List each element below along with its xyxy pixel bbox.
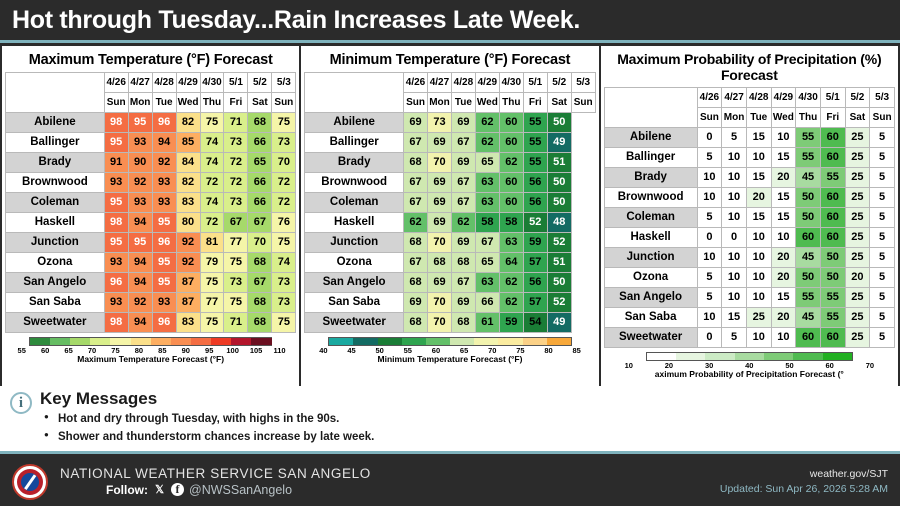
forecast-cell: 68 [248, 313, 272, 333]
city-label: Coleman [305, 193, 404, 213]
legend-tick-label: 85 [563, 346, 591, 355]
column-date-header: 4/27 [128, 73, 152, 93]
forecast-cell: 10 [746, 148, 771, 168]
forecast-cell: 10 [722, 208, 747, 228]
table-row: Brady101015204555255 [604, 168, 894, 188]
forecast-cell: 10 [697, 188, 722, 208]
city-label: Haskell [604, 228, 697, 248]
city-label: San Angelo [6, 273, 105, 293]
forecast-cell: 83 [176, 193, 200, 213]
forecast-cell: 62 [499, 153, 523, 173]
legend-colorbar [646, 352, 853, 361]
column-date-header: 5/3 [870, 88, 895, 108]
forecast-panels: Maximum Temperature (°F) Forecast 4/264/… [0, 46, 900, 386]
forecast-cell: 25 [845, 328, 870, 348]
forecast-cell: 73 [224, 193, 248, 213]
forecast-cell: 59 [523, 233, 547, 253]
forecast-cell: 48 [547, 213, 571, 233]
legend-swatch [547, 338, 571, 345]
forecast-cell: 10 [771, 228, 796, 248]
forecast-cell: 55 [523, 133, 547, 153]
legend-swatch [50, 338, 70, 345]
forecast-cell: 10 [746, 328, 771, 348]
forecast-cell: 62 [475, 113, 499, 133]
forecast-cell: 70 [427, 153, 451, 173]
forecast-cell: 72 [272, 173, 296, 193]
nws-logo-icon [12, 464, 48, 500]
forecast-cell: 52 [523, 213, 547, 233]
forecast-cell: 5 [697, 288, 722, 308]
forecast-cell: 69 [427, 273, 451, 293]
forecast-cell: 52 [547, 293, 571, 313]
forecast-cell: 64 [499, 253, 523, 273]
forecast-cell: 92 [128, 173, 152, 193]
forecast-cell: 75 [200, 113, 224, 133]
forecast-cell: 20 [771, 168, 796, 188]
forecast-cell: 60 [796, 328, 821, 348]
follow-label: Follow: [106, 483, 148, 497]
legend-swatch [30, 338, 50, 345]
website-link[interactable]: weather.gov/SJT [720, 467, 888, 481]
city-label: Brownwood [604, 188, 697, 208]
forecast-cell: 83 [176, 313, 200, 333]
forecast-cell: 68 [451, 313, 475, 333]
legend-swatch [676, 353, 705, 360]
forecast-cell: 51 [547, 253, 571, 273]
city-label: San Saba [6, 293, 105, 313]
forecast-cell: 75 [272, 313, 296, 333]
forecast-cell: 55 [820, 288, 845, 308]
forecast-cell: 5 [870, 328, 895, 348]
legend-swatch [90, 338, 110, 345]
key-messages-list: Hot and dry through Tuesday, with highs … [40, 411, 374, 447]
forecast-cell: 5 [870, 288, 895, 308]
column-day-header: Thu [499, 93, 523, 113]
x-twitter-icon[interactable]: 𝕏 [153, 483, 166, 496]
forecast-cell: 58 [499, 213, 523, 233]
forecast-cell: 79 [200, 253, 224, 273]
legend-min-temp: 40455055606570758085 Minimum Temperature… [304, 337, 595, 366]
updated-timestamp: Updated: Sun Apr 26, 2026 5:28 AM [720, 482, 888, 496]
forecast-cell: 0 [722, 228, 747, 248]
forecast-cell [571, 293, 595, 313]
forecast-cell: 10 [746, 228, 771, 248]
weather-graphic: Hot through Tuesday...Rain Increases Lat… [0, 0, 900, 506]
forecast-cell: 73 [272, 133, 296, 153]
legend-colorbar [29, 337, 273, 346]
forecast-cell: 10 [771, 128, 796, 148]
table-row: Brownwood101020155060255 [604, 188, 894, 208]
forecast-cell: 68 [427, 253, 451, 273]
city-label: Sweetwater [6, 313, 105, 333]
legend-swatch [110, 338, 130, 345]
table-row: Ballinger9593948574736673 [6, 133, 296, 153]
forecast-cell: 52 [547, 233, 571, 253]
city-label: Ozona [6, 253, 105, 273]
forecast-cell [571, 253, 595, 273]
legend-swatch [151, 338, 171, 345]
column-day-header: Tue [451, 93, 475, 113]
forecast-cell: 5 [870, 308, 895, 328]
forecast-cell: 5 [697, 148, 722, 168]
forecast-cell: 50 [796, 268, 821, 288]
forecast-cell: 68 [404, 153, 428, 173]
forecast-cell: 0 [697, 328, 722, 348]
forecast-cell: 45 [796, 248, 821, 268]
forecast-cell: 15 [771, 188, 796, 208]
panel-min-temp: Minimum Temperature (°F) Forecast 4/264/… [301, 46, 598, 386]
legend-swatch [378, 338, 402, 345]
forecast-cell [571, 273, 595, 293]
column-date-header: 4/29 [176, 73, 200, 93]
forecast-cell: 75 [272, 233, 296, 253]
column-day-header: Mon [128, 93, 152, 113]
city-label: San Saba [305, 293, 404, 313]
column-day-header: Sun [104, 93, 128, 113]
forecast-cell: 67 [404, 253, 428, 273]
legend-swatch [498, 338, 522, 345]
column-date-header: 4/30 [200, 73, 224, 93]
forecast-cell: 25 [845, 208, 870, 228]
table-row: Coleman9593938374736672 [6, 193, 296, 213]
column-day-header: Fri [523, 93, 547, 113]
info-icon: i [10, 392, 32, 414]
city-label: Haskell [305, 213, 404, 233]
city-label: Sweetwater [604, 328, 697, 348]
forecast-cell: 25 [845, 168, 870, 188]
forecast-cell: 69 [427, 173, 451, 193]
forecast-cell: 5 [697, 208, 722, 228]
column-day-header: Mon [722, 108, 747, 128]
forecast-cell: 45 [796, 308, 821, 328]
forecast-cell: 94 [128, 253, 152, 273]
forecast-cell: 55 [820, 168, 845, 188]
forecast-cell: 20 [771, 308, 796, 328]
forecast-cell [571, 133, 595, 153]
table-row: San Angelo51010155555255 [604, 288, 894, 308]
legend-swatch [793, 353, 822, 360]
table-corner [6, 73, 105, 113]
forecast-cell: 67 [451, 133, 475, 153]
forecast-cell: 15 [722, 308, 747, 328]
forecast-cell: 50 [547, 273, 571, 293]
forecast-cell: 55 [796, 128, 821, 148]
legend-swatch [523, 338, 547, 345]
forecast-cell: 60 [820, 208, 845, 228]
forecast-cell: 72 [272, 193, 296, 213]
legend-swatch [353, 338, 377, 345]
forecast-cell: 70 [427, 313, 451, 333]
forecast-cell: 63 [499, 233, 523, 253]
legend-swatch [131, 338, 151, 345]
forecast-cell: 55 [820, 308, 845, 328]
forecast-cell: 68 [248, 253, 272, 273]
forecast-cell: 0 [697, 228, 722, 248]
legend-swatch [211, 338, 231, 345]
forecast-cell: 69 [451, 233, 475, 253]
column-day-header: Fri [224, 93, 248, 113]
forecast-cell: 96 [152, 233, 176, 253]
table-row: Junction68706967635952 [305, 233, 595, 253]
forecast-cell: 68 [404, 233, 428, 253]
forecast-cell: 5 [722, 328, 747, 348]
forecast-cell: 72 [200, 213, 224, 233]
forecast-cell: 10 [771, 328, 796, 348]
column-day-header: Fri [820, 108, 845, 128]
forecast-cell: 54 [523, 313, 547, 333]
forecast-cell: 55 [796, 288, 821, 308]
city-label: San Saba [604, 308, 697, 328]
city-label: Brady [305, 153, 404, 173]
forecast-cell: 75 [200, 273, 224, 293]
forecast-cell: 66 [475, 293, 499, 313]
forecast-cell: 92 [152, 153, 176, 173]
key-message-item: Shower and thunderstorm chances increase… [40, 429, 374, 447]
forecast-cell: 66 [248, 173, 272, 193]
forecast-cell: 73 [224, 133, 248, 153]
table-row: Brady68706965625551 [305, 153, 595, 173]
forecast-cell: 91 [104, 153, 128, 173]
legend-swatch [764, 353, 793, 360]
column-date-header: 4/27 [427, 73, 451, 93]
legend-caption: aximum Probability of Precipitation Fore… [608, 369, 891, 379]
forecast-cell: 10 [722, 148, 747, 168]
legend-colorbar [328, 337, 572, 346]
city-label: Ballinger [305, 133, 404, 153]
table-row: San Saba101525204555255 [604, 308, 894, 328]
column-day-header: Sun [404, 93, 428, 113]
city-label: Brownwood [6, 173, 105, 193]
forecast-cell: 74 [272, 253, 296, 273]
column-date-header: 5/1 [224, 73, 248, 93]
city-label: San Angelo [604, 288, 697, 308]
column-date-header: 5/1 [820, 88, 845, 108]
column-date-header: 4/26 [404, 73, 428, 93]
column-date-header: 4/28 [451, 73, 475, 93]
table-row: Sweetwater0510106060255 [604, 328, 894, 348]
forecast-cell: 95 [104, 133, 128, 153]
forecast-cell: 63 [475, 273, 499, 293]
forecast-cell: 87 [176, 273, 200, 293]
forecast-cell: 74 [200, 193, 224, 213]
forecast-cell: 60 [820, 328, 845, 348]
legend-swatch [426, 338, 450, 345]
forecast-cell: 80 [176, 213, 200, 233]
forecast-cell: 93 [152, 193, 176, 213]
forecast-cell: 93 [104, 173, 128, 193]
forecast-cell: 60 [796, 228, 821, 248]
table-row: Junction101010204550255 [604, 248, 894, 268]
legend-swatch [735, 353, 764, 360]
forecast-cell: 0 [697, 128, 722, 148]
forecast-cell: 55 [523, 113, 547, 133]
forecast-cell: 67 [404, 133, 428, 153]
forecast-cell: 10 [722, 288, 747, 308]
table-row: Ozona67686865645751 [305, 253, 595, 273]
forecast-cell: 10 [697, 248, 722, 268]
forecast-cell: 67 [248, 273, 272, 293]
forecast-cell: 25 [746, 308, 771, 328]
forecast-cell: 93 [128, 133, 152, 153]
legend-tick-label: 80 [534, 346, 562, 355]
table-corner [305, 73, 404, 113]
legend-precip: 10203040506070 aximum Probability of Pre… [604, 352, 895, 381]
forecast-cell: 50 [820, 268, 845, 288]
forecast-cell: 62 [404, 213, 428, 233]
footer-office-name: NATIONAL WEATHER SERVICE SAN ANGELO [60, 466, 371, 482]
table-row: Ozona9394959279756874 [6, 253, 296, 273]
forecast-cell: 10 [722, 248, 747, 268]
forecast-cell: 67 [404, 193, 428, 213]
legend-tick-label: 70 [850, 361, 890, 370]
legend-tick-label: 100 [221, 346, 244, 355]
city-label: Brownwood [305, 173, 404, 193]
forecast-cell: 69 [451, 293, 475, 313]
forecast-cell: 82 [176, 113, 200, 133]
city-label: Abilene [604, 128, 697, 148]
forecast-cell: 25 [845, 308, 870, 328]
forecast-cell: 5 [870, 168, 895, 188]
forecast-cell: 60 [499, 113, 523, 133]
table-row: Haskell62696258585248 [305, 213, 595, 233]
forecast-cell: 67 [451, 193, 475, 213]
legend-swatch [231, 338, 251, 345]
forecast-cell: 98 [104, 313, 128, 333]
facebook-icon[interactable]: f [171, 483, 184, 496]
forecast-cell: 95 [152, 273, 176, 293]
forecast-cell: 96 [152, 113, 176, 133]
forecast-cell: 74 [200, 133, 224, 153]
legend-swatch [823, 353, 852, 360]
forecast-cell: 25 [845, 188, 870, 208]
table-row: Brady9190928474726570 [6, 153, 296, 173]
forecast-cell: 96 [152, 313, 176, 333]
forecast-cell: 25 [845, 128, 870, 148]
forecast-cell: 56 [523, 193, 547, 213]
legend-swatch [474, 338, 498, 345]
forecast-cell: 68 [248, 293, 272, 313]
forecast-cell: 62 [451, 213, 475, 233]
column-date-header: 4/28 [152, 73, 176, 93]
table-row: Ballinger51010155560255 [604, 148, 894, 168]
forecast-cell: 92 [128, 293, 152, 313]
legend-max-temp: 556065707580859095100105110 Maximum Temp… [5, 337, 296, 366]
city-label: San Angelo [305, 273, 404, 293]
city-label: Junction [305, 233, 404, 253]
forecast-cell: 77 [224, 233, 248, 253]
forecast-cell: 15 [771, 148, 796, 168]
forecast-cell: 77 [200, 293, 224, 313]
social-handle[interactable]: @NWSSanAngelo [189, 483, 292, 497]
table-row: San Saba9392938777756873 [6, 293, 296, 313]
forecast-cell: 50 [820, 248, 845, 268]
column-day-header: Wed [771, 108, 796, 128]
forecast-cell: 65 [475, 253, 499, 273]
forecast-cell: 5 [870, 188, 895, 208]
legend-swatch [191, 338, 211, 345]
forecast-cell: 75 [200, 313, 224, 333]
forecast-cell: 69 [404, 293, 428, 313]
key-messages-section: i Key Messages Hot and dry through Tuesd… [0, 386, 900, 454]
table-row: San Saba69706966625752 [305, 293, 595, 313]
forecast-cell: 95 [152, 253, 176, 273]
forecast-cell: 15 [771, 208, 796, 228]
table-precip-probability: 4/264/274/284/294/305/15/25/3SunMonTueWe… [604, 87, 895, 348]
forecast-cell: 20 [771, 268, 796, 288]
forecast-cell: 72 [224, 173, 248, 193]
column-date-header: 4/28 [746, 88, 771, 108]
table-max-temp: 4/264/274/284/294/305/15/25/3SunMonTueWe… [5, 72, 296, 333]
forecast-cell: 82 [176, 173, 200, 193]
table-row: Sweetwater9894968375716875 [6, 313, 296, 333]
forecast-cell: 73 [272, 273, 296, 293]
forecast-cell: 65 [248, 153, 272, 173]
forecast-cell: 68 [404, 273, 428, 293]
forecast-cell: 95 [152, 213, 176, 233]
forecast-cell: 67 [451, 273, 475, 293]
table-corner [604, 88, 697, 128]
legend-tick-label: 110 [268, 346, 291, 355]
table-row: San Angelo9694958775736773 [6, 273, 296, 293]
forecast-cell [571, 193, 595, 213]
forecast-cell: 15 [746, 128, 771, 148]
forecast-cell: 15 [746, 168, 771, 188]
city-label: Haskell [6, 213, 105, 233]
table-row: Coleman51015155060255 [604, 208, 894, 228]
legend-swatch [705, 353, 734, 360]
city-label: Coleman [604, 208, 697, 228]
forecast-cell: 92 [176, 253, 200, 273]
table-row: Brownwood67696763605650 [305, 173, 595, 193]
forecast-cell: 20 [746, 188, 771, 208]
forecast-cell: 93 [104, 293, 128, 313]
forecast-cell: 72 [200, 173, 224, 193]
column-date-header: 5/2 [547, 73, 571, 93]
forecast-cell: 60 [820, 188, 845, 208]
table-row: Abilene69736962605550 [305, 113, 595, 133]
column-day-header: Sun [272, 93, 296, 113]
legend-swatch [450, 338, 474, 345]
key-messages-title: Key Messages [40, 390, 374, 408]
legend-swatch [70, 338, 90, 345]
forecast-cell: 55 [796, 148, 821, 168]
forecast-cell: 98 [104, 213, 128, 233]
table-row: San Angelo68696763625650 [305, 273, 595, 293]
forecast-cell: 60 [499, 193, 523, 213]
forecast-cell: 5 [697, 268, 722, 288]
table-row: Sweetwater68706861595449 [305, 313, 595, 333]
city-label: Abilene [6, 113, 105, 133]
forecast-cell: 95 [104, 233, 128, 253]
table-min-temp: 4/264/274/284/294/305/15/25/3SunMonTueWe… [304, 72, 595, 333]
table-row: Haskell0010106060255 [604, 228, 894, 248]
panel-title-min-temp: Minimum Temperature (°F) Forecast [304, 49, 595, 72]
column-date-header: 4/30 [796, 88, 821, 108]
forecast-cell: 15 [746, 208, 771, 228]
forecast-cell: 66 [248, 193, 272, 213]
column-day-header: Tue [152, 93, 176, 113]
forecast-cell: 94 [128, 213, 152, 233]
forecast-cell: 62 [475, 133, 499, 153]
forecast-cell: 95 [104, 193, 128, 213]
legend-swatch [402, 338, 426, 345]
forecast-cell: 67 [451, 173, 475, 193]
forecast-cell: 70 [272, 153, 296, 173]
forecast-cell: 50 [796, 208, 821, 228]
legend-caption: Minimum Temperature Forecast (°F) [308, 354, 591, 364]
forecast-cell: 45 [796, 168, 821, 188]
forecast-cell: 50 [547, 113, 571, 133]
